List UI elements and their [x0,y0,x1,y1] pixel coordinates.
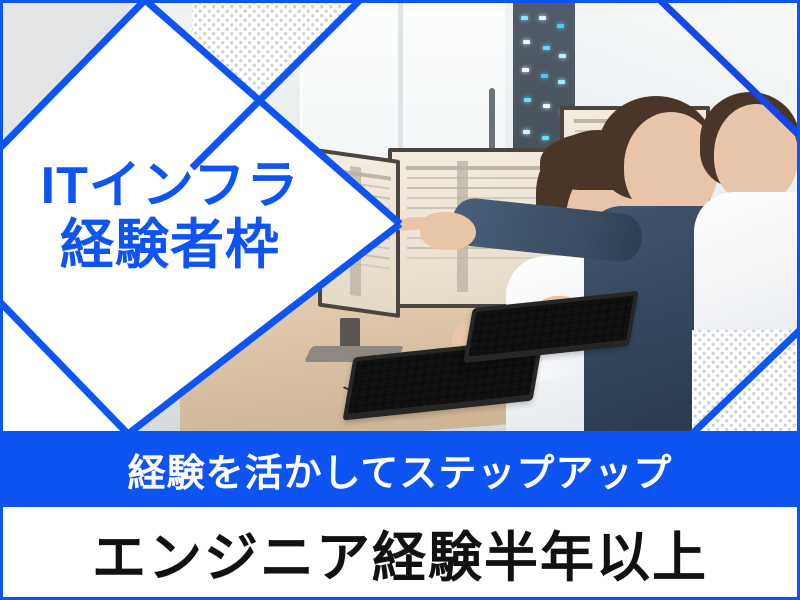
requirement-band: エンジニア経験半年以上 [0,504,800,600]
hero-photo: ITインフラ 経験者枠 [0,0,800,434]
subheadline-text: 経験を活かしてステップアップ [128,442,673,497]
subheadline-band: 経験を活かしてステップアップ [0,434,800,504]
recruitment-banner: ITインフラ 経験者枠 経験を活かしてステップアップ エンジニア経験半年以上 [0,0,800,600]
accent-diagonal-top-right [660,0,800,136]
geometric-overlay [0,0,800,434]
requirement-text: エンジニア経験半年以上 [92,513,708,592]
